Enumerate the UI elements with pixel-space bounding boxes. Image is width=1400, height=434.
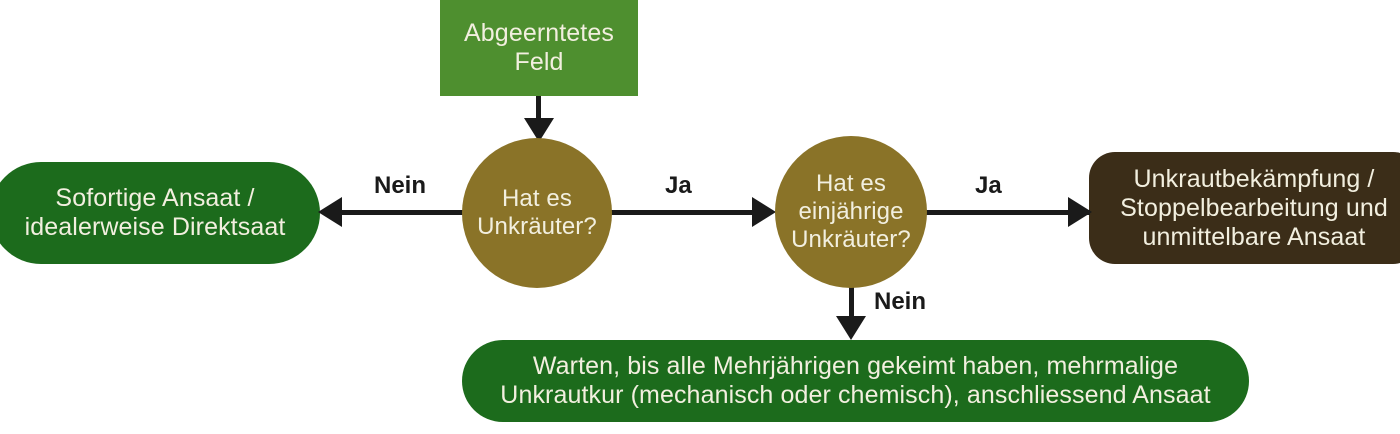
arrowhead-decision1-no [318, 197, 342, 227]
node-action-wait-and-treat-text: Warten, bis alle Mehrjährigen gekeimt ha… [500, 352, 1210, 410]
node-decision-1-line-1: Hat es [477, 185, 597, 213]
node-action-wait-and-treat-line-1: Warten, bis alle Mehrjährigen gekeimt ha… [500, 352, 1210, 381]
node-decision-2-line-3: Unkräuter? [791, 226, 911, 254]
node-action-direct-seeding-line-2: idealerweise Direktsaat [25, 213, 286, 242]
node-start-text: Abgeerntetes Feld [464, 19, 614, 77]
node-start-line-1: Abgeerntetes [464, 19, 614, 48]
node-action-wait-and-treat[interactable]: Warten, bis alle Mehrjährigen gekeimt ha… [462, 340, 1249, 422]
arrowhead-decision2-no [836, 316, 866, 340]
arrowhead-decision1-yes [752, 197, 776, 227]
node-action-weed-control-line-2: Stoppelbearbeitung und [1120, 194, 1388, 223]
flowchart-canvas: Nein Ja Ja Nein Abgeerntetes Feld Hat es… [0, 0, 1400, 434]
node-action-wait-and-treat-line-2: Unkrautkur (mechanisch oder chemisch), a… [500, 381, 1210, 410]
connector-decision1-yes [606, 210, 766, 215]
node-decision-2-line-2: einjährige [791, 198, 911, 226]
node-action-direct-seeding-line-1: Sofortige Ansaat / [25, 184, 286, 213]
node-decision-2-line-1: Hat es [791, 170, 911, 198]
node-decision-has-weeds[interactable]: Hat es Unkräuter? [462, 138, 612, 288]
connector-decision1-no [330, 210, 468, 215]
node-decision-1-line-2: Unkräuter? [477, 213, 597, 241]
connector-decision2-yes [920, 210, 1090, 215]
node-decision-2-text: Hat es einjährige Unkräuter? [791, 170, 911, 253]
edge-label-decision2-yes: Ja [975, 172, 1002, 200]
node-action-weed-control[interactable]: Unkrautbekämpfung / Stoppelbearbeitung u… [1089, 152, 1400, 264]
edge-label-decision2-no: Nein [874, 288, 926, 316]
node-decision-has-annual-weeds[interactable]: Hat es einjährige Unkräuter? [775, 136, 927, 288]
node-start-harvested-field[interactable]: Abgeerntetes Feld [440, 0, 638, 96]
node-action-direct-seeding-text: Sofortige Ansaat / idealerweise Direktsa… [25, 184, 286, 242]
node-action-direct-seeding[interactable]: Sofortige Ansaat / idealerweise Direktsa… [0, 162, 320, 264]
node-action-weed-control-line-1: Unkrautbekämpfung / [1120, 165, 1388, 194]
node-action-weed-control-text: Unkrautbekämpfung / Stoppelbearbeitung u… [1120, 165, 1388, 252]
arrowhead-decision2-yes [1068, 197, 1092, 227]
node-action-weed-control-line-3: unmittelbare Ansaat [1120, 223, 1388, 252]
edge-label-decision1-yes: Ja [665, 172, 692, 200]
node-decision-1-text: Hat es Unkräuter? [477, 185, 597, 241]
edge-label-decision1-no: Nein [374, 172, 426, 200]
node-start-line-2: Feld [464, 48, 614, 77]
